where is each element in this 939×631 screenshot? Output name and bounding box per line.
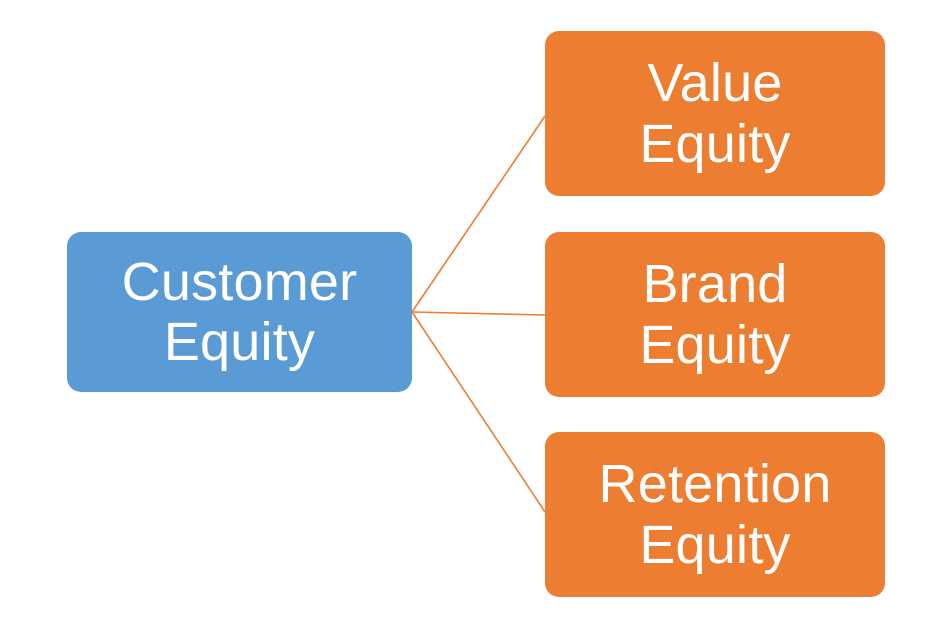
connector-root-to-brand	[412, 312, 545, 315]
node-brand-equity[interactable]: Brand Equity	[545, 232, 885, 397]
node-value-equity[interactable]: Value Equity	[545, 31, 885, 196]
node-label-line: Equity	[639, 315, 790, 375]
connector-root-to-value	[412, 116, 545, 312]
diagram-canvas: Customer Equity Value Equity Brand Equit…	[0, 0, 939, 631]
node-retention-equity[interactable]: Retention Equity	[545, 432, 885, 597]
connector-root-to-retention	[412, 312, 545, 512]
node-label-line: Equity	[639, 515, 790, 575]
node-label-line: Customer	[122, 252, 358, 312]
node-label-line: Equity	[164, 312, 315, 372]
node-label-line: Value	[647, 53, 782, 113]
node-label-line: Equity	[639, 114, 790, 174]
node-customer-equity[interactable]: Customer Equity	[67, 232, 412, 392]
node-label-line: Retention	[599, 454, 832, 514]
node-label-line: Brand	[642, 254, 787, 314]
